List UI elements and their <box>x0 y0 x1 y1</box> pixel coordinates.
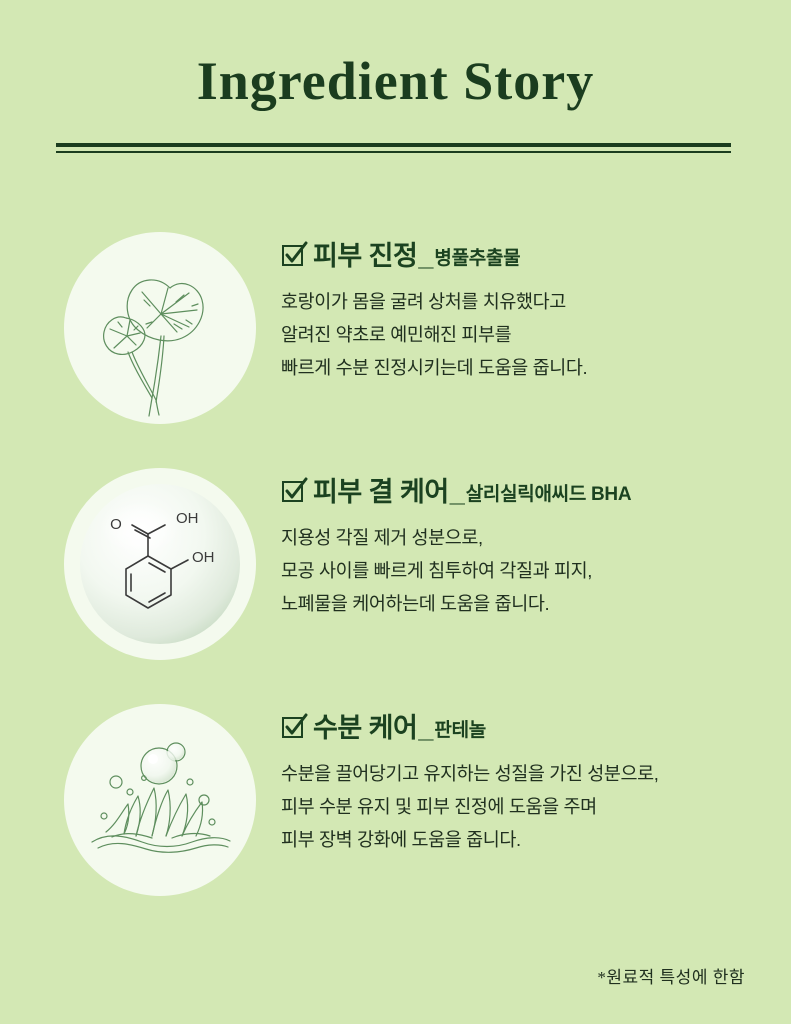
divider-rule-thin <box>56 151 731 153</box>
ingredient-text-block: 피부 결 케어 _ 살리실릭애씨드 BHA 지용성 각질 제거 성분으로, 모공… <box>281 474 767 621</box>
ingredient-separator: _ <box>417 715 434 742</box>
ingredient-title: 수분 케어 <box>313 715 417 742</box>
ingredient-title: 피부 결 케어 <box>313 479 449 506</box>
ingredient-heading: 피부 결 케어 _ 살리실릭애씨드 BHA <box>281 474 767 506</box>
ingredient-title: 피부 진정 <box>313 243 417 270</box>
centella-leaf-illustration <box>64 232 256 424</box>
description-line: 수분을 끌어당기고 유지하는 성질을 가진 성분으로, <box>281 758 767 791</box>
description-line: 모공 사이를 빠르게 침투하여 각질과 피지, <box>281 555 767 588</box>
description-line: 피부 장벽 강화에 도움을 줍니다. <box>281 824 767 857</box>
description-line: 알려진 약초로 예민해진 피부를 <box>281 319 767 352</box>
ingredient-separator: _ <box>449 479 466 506</box>
checkbox-checked-icon <box>281 713 308 740</box>
page-header: Ingredient Story <box>0 52 791 111</box>
ingredient-item-skin-soothing: 피부 진정 _ 병풀추출물 호랑이가 몸을 굴려 상처를 치유했다고 알려진 약… <box>0 222 791 458</box>
salicylic-acid-molecule-illustration: O OH OH <box>64 468 256 660</box>
ingredient-description: 수분을 끌어당기고 유지하는 성질을 가진 성분으로, 피부 수분 유지 및 피… <box>281 758 767 857</box>
description-line: 빠르게 수분 진정시키는데 도움을 줍니다. <box>281 352 767 385</box>
ingredient-text-block: 수분 케어 _ 판테놀 수분을 끌어당기고 유지하는 성질을 가진 성분으로, … <box>281 710 767 857</box>
description-line: 호랑이가 몸을 굴려 상처를 치유했다고 <box>281 286 767 319</box>
checkbox-checked-icon <box>281 241 308 268</box>
ingredient-story-page: Ingredient Story <box>0 0 791 1024</box>
ingredient-item-hydration-care: 수분 케어 _ 판테놀 수분을 끌어당기고 유지하는 성질을 가진 성분으로, … <box>0 694 791 930</box>
ingredient-subtitle: 살리실릭애씨드 BHA <box>466 485 632 504</box>
description-line: 지용성 각질 제거 성분으로, <box>281 522 767 555</box>
ingredient-subtitle: 병풀추출물 <box>434 249 520 268</box>
ingredient-heading: 피부 진정 _ 병풀추출물 <box>281 238 767 270</box>
ingredient-heading: 수분 케어 _ 판테놀 <box>281 710 767 742</box>
ingredient-description: 지용성 각질 제거 성분으로, 모공 사이를 빠르게 침투하여 각질과 피지, … <box>281 522 767 621</box>
ingredient-item-texture-care: O OH OH 피부 결 케어 _ 살리실릭애씨드 <box>0 458 791 694</box>
description-line: 노폐물을 케어하는데 도움을 줍니다. <box>281 588 767 621</box>
ingredient-list: 피부 진정 _ 병풀추출물 호랑이가 몸을 굴려 상처를 치유했다고 알려진 약… <box>0 222 791 930</box>
water-splash-illustration <box>64 704 256 896</box>
checkbox-checked-icon <box>281 477 308 504</box>
divider-rule-thick <box>56 143 731 147</box>
molecule-label-cooh: OH <box>176 510 199 527</box>
ingredient-description: 호랑이가 몸을 굴려 상처를 치유했다고 알려진 약초로 예민해진 피부를 빠르… <box>281 286 767 385</box>
ingredient-text-block: 피부 진정 _ 병풀추출물 호랑이가 몸을 굴려 상처를 치유했다고 알려진 약… <box>281 238 767 385</box>
molecule-label-oh: OH <box>192 549 215 566</box>
header-divider <box>56 143 731 153</box>
molecule-label-o: O <box>110 516 122 533</box>
footnote: *원료적 특성에 한함 <box>597 963 745 988</box>
ingredient-separator: _ <box>417 243 434 270</box>
page-title: Ingredient Story <box>0 52 791 111</box>
description-line: 피부 수분 유지 및 피부 진정에 도움을 주며 <box>281 791 767 824</box>
ingredient-subtitle: 판테놀 <box>434 721 486 740</box>
